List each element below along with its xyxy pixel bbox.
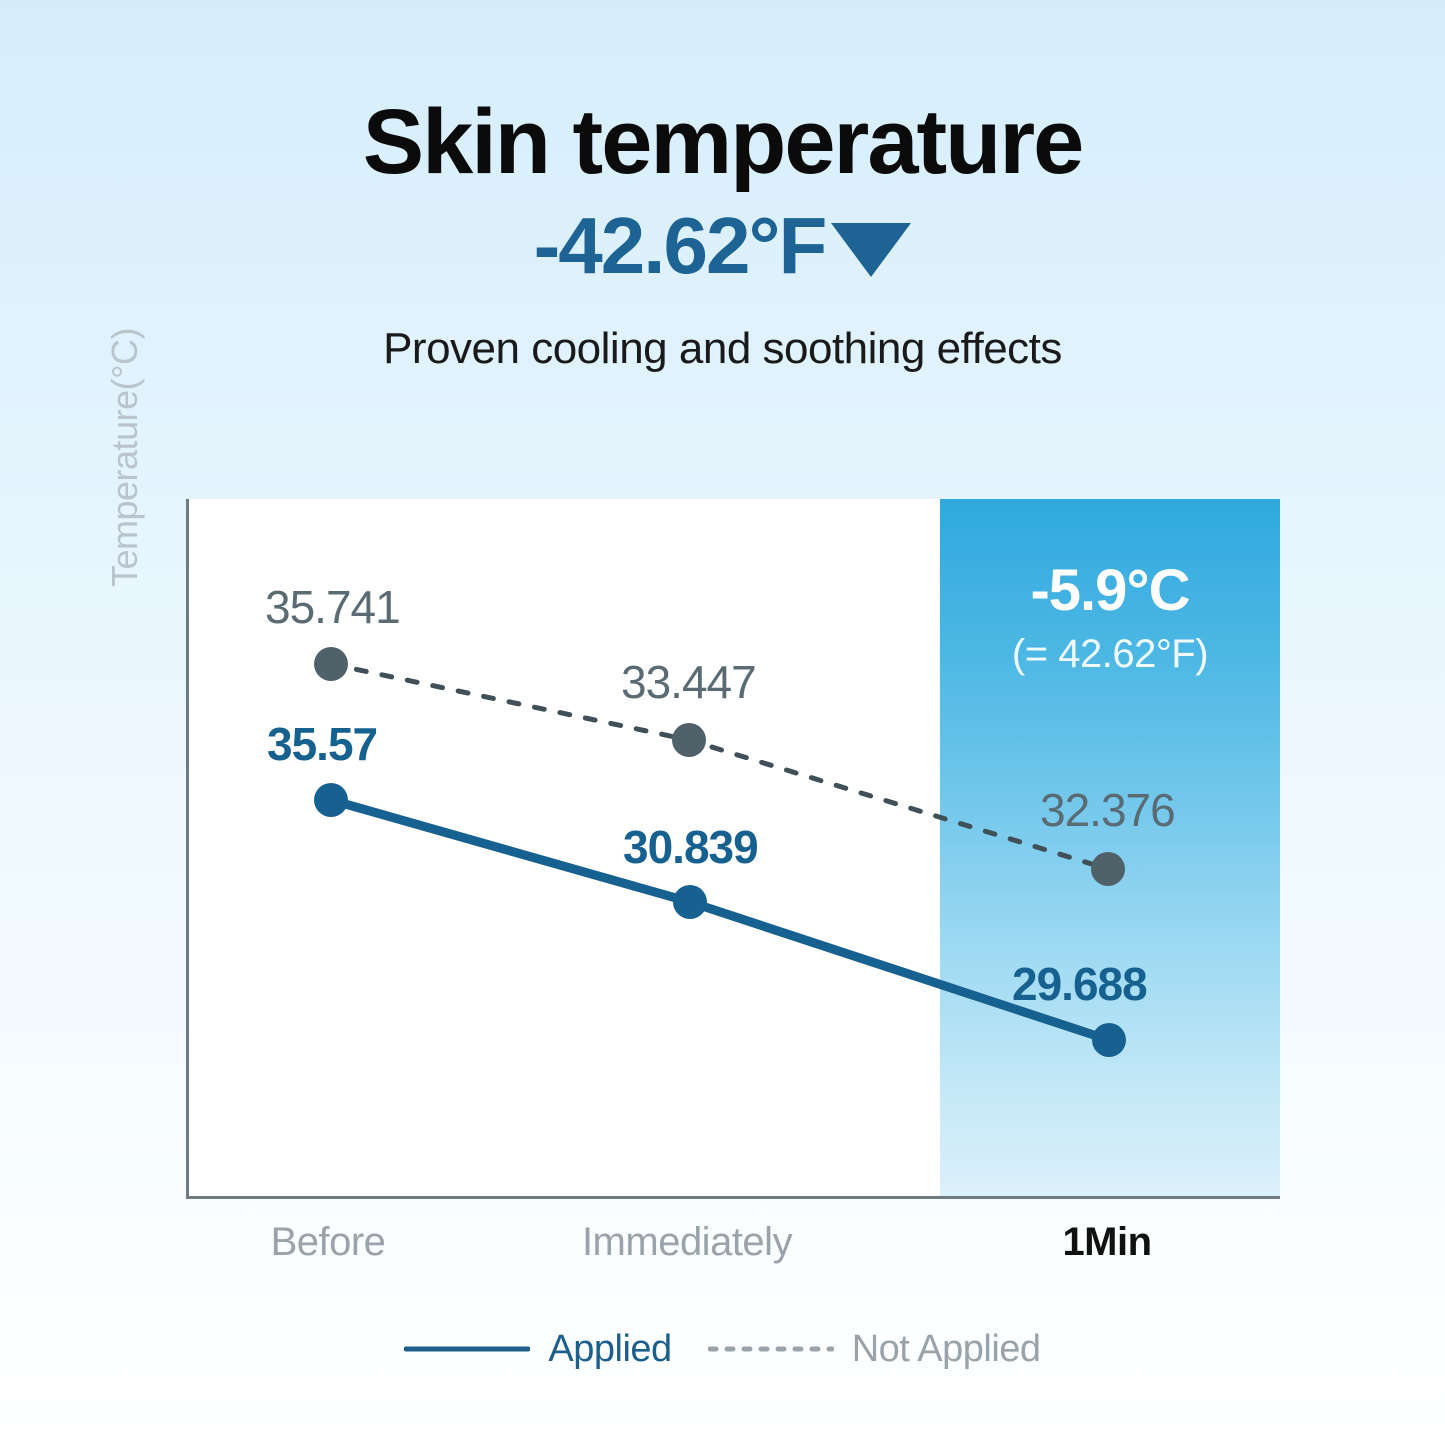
data-label-not-applied-before: 35.741 — [265, 584, 400, 630]
marker-applied-1min — [1092, 1023, 1126, 1057]
marker-applied-before — [314, 783, 348, 817]
marker-not-applied-immediately — [672, 723, 706, 757]
chart-legend: Applied Not Applied — [0, 1330, 1445, 1368]
x-tick-label-immediately: Immediately — [547, 1222, 827, 1262]
data-label-applied-before: 35.57 — [267, 721, 377, 767]
x-tick-label-before: Before — [188, 1222, 468, 1262]
chart-container: Temperature(°C) -5.9°C (= 42.62°F) 35.74… — [0, 0, 1445, 1445]
legend-item-applied[interactable]: Applied — [404, 1330, 671, 1368]
legend-dotted-line-icon — [708, 1342, 834, 1356]
marker-applied-immediately — [673, 885, 707, 919]
legend-label-not-applied: Not Applied — [852, 1330, 1041, 1368]
plot-area: -5.9°C (= 42.62°F) 35.741 33.447 32.376 … — [186, 499, 1280, 1199]
data-label-not-applied-immediately: 33.447 — [621, 659, 756, 705]
legend-solid-line-icon — [404, 1342, 530, 1356]
x-tick-label-1min: 1Min — [967, 1222, 1247, 1262]
data-label-applied-immediately: 30.839 — [623, 824, 758, 870]
marker-not-applied-1min — [1091, 852, 1125, 886]
legend-item-not-applied[interactable]: Not Applied — [708, 1330, 1041, 1368]
data-label-applied-1min: 29.688 — [1012, 961, 1147, 1007]
data-label-not-applied-1min: 32.376 — [1040, 787, 1175, 833]
y-axis-title: Temperature(°C) — [104, 267, 150, 587]
legend-label-applied: Applied — [548, 1330, 671, 1368]
marker-not-applied-before — [314, 647, 348, 681]
